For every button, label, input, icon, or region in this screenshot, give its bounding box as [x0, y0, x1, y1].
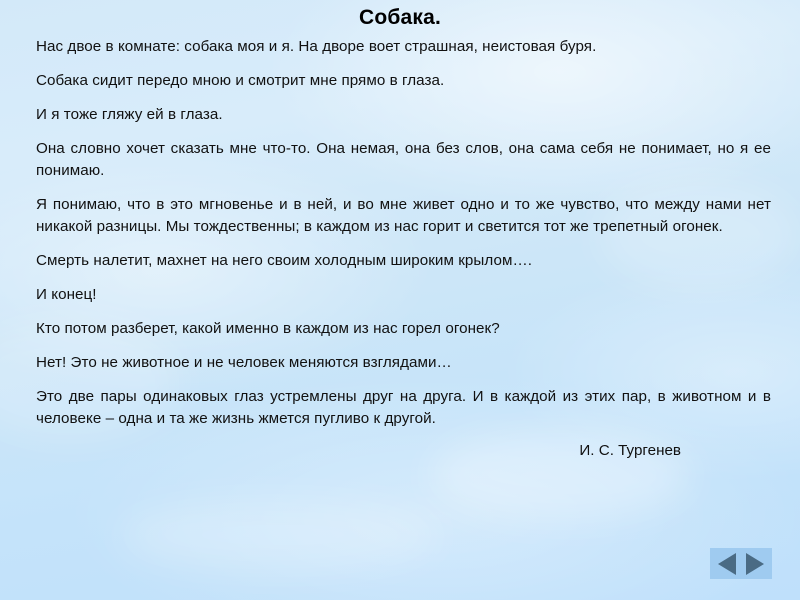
paragraph-10: Это две пары одинаковых глаз устремлены … — [36, 386, 771, 430]
paragraph-4: Она словно хочет сказать мне что-то. Она… — [36, 138, 771, 182]
page-title: Собака. — [0, 0, 800, 30]
paragraph-7: И конец! — [36, 284, 771, 306]
paragraph-9: Нет! Это не животное и не человек меняют… — [36, 352, 771, 374]
arrow-right-icon — [746, 553, 764, 575]
slide-navigation — [710, 548, 772, 579]
previous-slide-button[interactable] — [713, 548, 741, 579]
arrow-left-icon — [718, 553, 736, 575]
next-slide-button[interactable] — [741, 548, 769, 579]
paragraph-5: Я понимаю, что в это мгновенье и в ней, … — [36, 194, 771, 238]
paragraph-6: Смерть налетит, махнет на него своим хол… — [36, 250, 771, 272]
paragraph-3: И я тоже гляжу ей в глаза. — [36, 104, 771, 126]
background-cloud-decoration — [120, 500, 440, 570]
slide-body-text: Нас двое в комнате: собака моя и я. На д… — [36, 36, 771, 462]
author-attribution: И. С. Тургенев — [36, 440, 681, 462]
paragraph-8: Кто потом разберет, какой именно в каждо… — [36, 318, 771, 340]
paragraph-1: Нас двое в комнате: собака моя и я. На д… — [36, 36, 771, 58]
paragraph-2: Собака сидит передо мною и смотрит мне п… — [36, 70, 771, 92]
slide-content: Собака. Нас двое в комнате: собака моя и… — [0, 0, 800, 30]
presentation-slide: Собака. Нас двое в комнате: собака моя и… — [0, 0, 800, 600]
